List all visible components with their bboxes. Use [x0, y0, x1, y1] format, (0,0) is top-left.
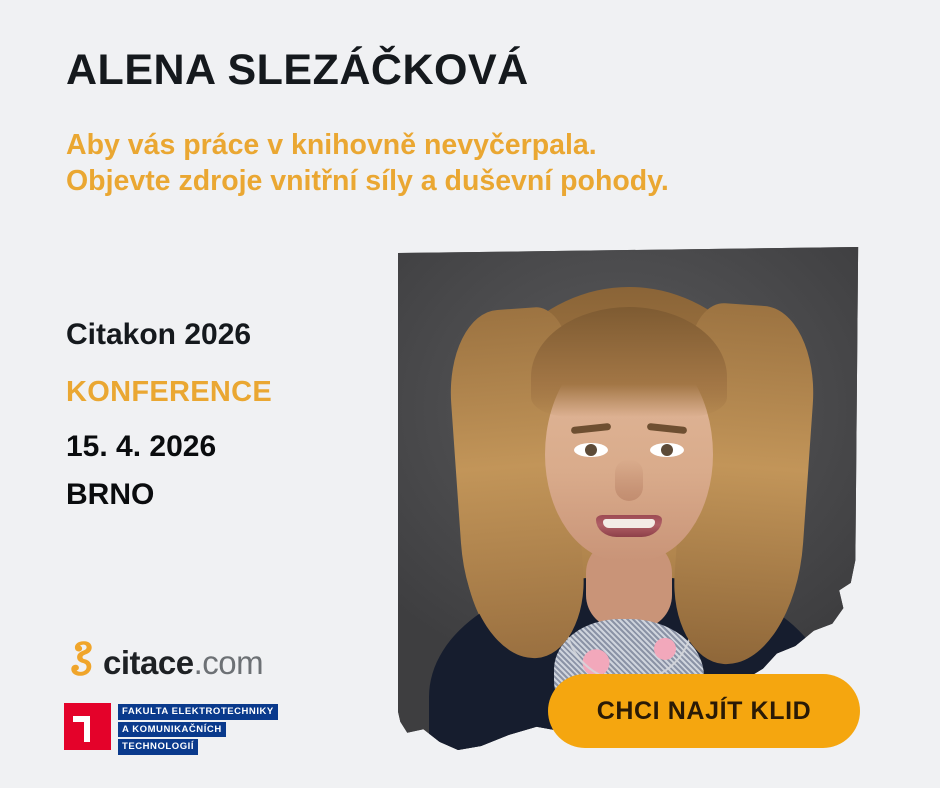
subtitle-line-2: Objevte zdroje vnitřní síly a duševní po…: [66, 163, 669, 199]
portrait-pupil-left: [585, 444, 597, 456]
portrait-eye-left: [574, 443, 608, 457]
portrait-eye-right: [650, 443, 684, 457]
event-info-block: Citakon 2026 KONFERENCE 15. 4. 2026 BRNO: [66, 318, 366, 513]
fekt-text-lines: FAKULTA ELEKTROTECHNIKY A KOMUNIKAČNÍCH …: [118, 703, 278, 757]
speaker-name: ALENA SLEZÁČKOVÁ: [66, 47, 529, 94]
citace-tld: .com: [194, 644, 264, 681]
vut-t-notch: [90, 716, 101, 726]
portrait-mouth: [596, 515, 662, 537]
event-conference-name: Citakon 2026: [66, 318, 366, 353]
citace-wordmark: citace.com: [103, 646, 263, 679]
event-type: KONFERENCE: [66, 376, 366, 409]
subtitle-line-1: Aby vás práce v knihovně nevyčerpala.: [66, 127, 669, 163]
portrait-pupil-right: [661, 444, 673, 456]
event-city: BRNO: [66, 478, 366, 513]
cta-button[interactable]: CHCI NAJÍT KLID: [548, 674, 860, 748]
fekt-line-3: TECHNOLOGIÍ: [118, 739, 198, 755]
fekt-line-1: FAKULTA ELEKTROTECHNIKY: [118, 704, 278, 720]
portrait-teeth: [603, 519, 655, 528]
citace-logo[interactable]: citace.com: [64, 636, 263, 684]
promo-banner: ALENA SLEZÁČKOVÁ Aby vás práce v knihovn…: [0, 0, 940, 788]
fekt-vut-logo[interactable]: FAKULTA ELEKTROTECHNIKY A KOMUNIKAČNÍCH …: [64, 703, 278, 753]
citace-word: citace: [103, 644, 194, 681]
vut-t-icon: [64, 703, 111, 750]
event-date: 15. 4. 2026: [66, 430, 366, 465]
fekt-line-2: A KOMUNIKAČNÍCH: [118, 722, 226, 738]
portrait-nose: [615, 459, 643, 501]
subtitle: Aby vás práce v knihovně nevyčerpala. Ob…: [66, 127, 669, 199]
citace-swirl-icon: [64, 638, 94, 682]
